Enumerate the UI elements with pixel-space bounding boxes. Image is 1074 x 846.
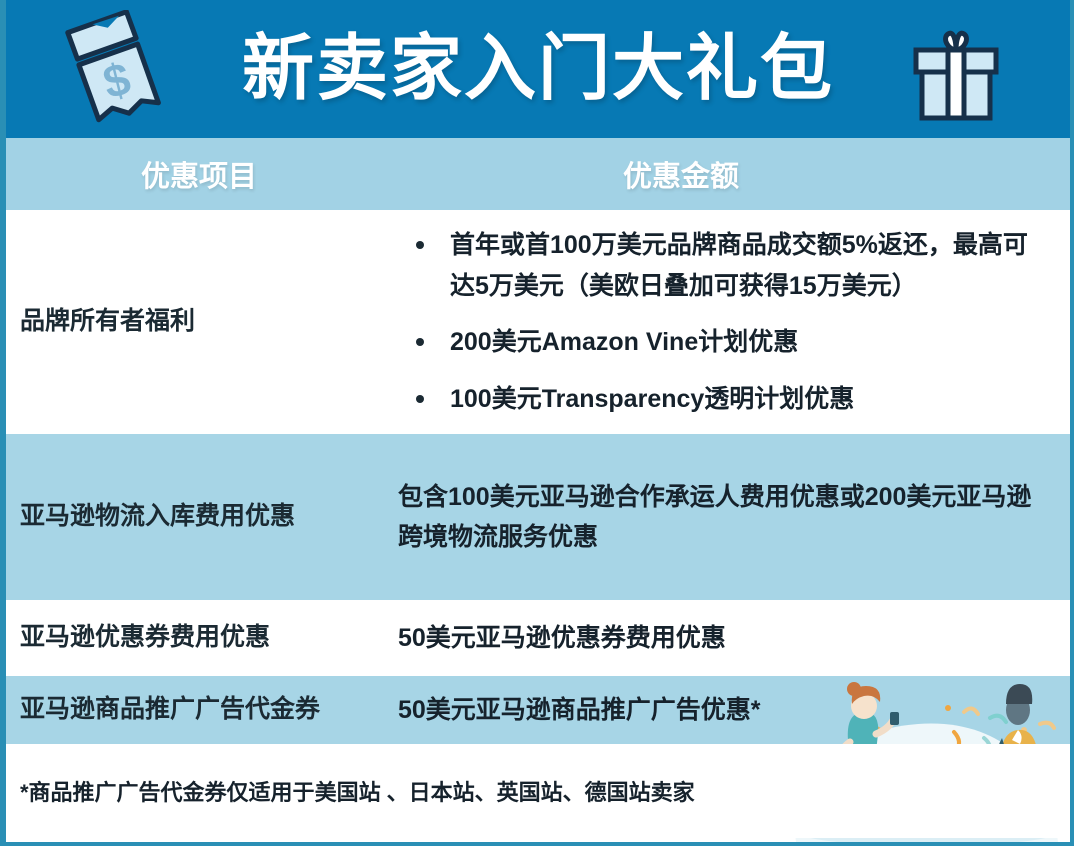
gift-box-icon <box>904 28 1008 124</box>
row-label: 亚马逊物流入库费用优惠 <box>6 500 392 534</box>
column-header-item: 优惠项目 <box>6 153 392 195</box>
table-row: 亚马逊优惠券费用优惠 50美元亚马逊优惠券费用优惠 <box>6 600 1070 676</box>
table-row: 亚马逊商品推广广告代金券 50美元亚马逊商品推广广告优惠* <box>6 676 1070 744</box>
row-label: 亚马逊商品推广广告代金券 <box>6 693 392 727</box>
column-header-amount: 优惠金额 <box>392 153 1070 195</box>
ticket-dollar-icon: $ <box>48 10 168 130</box>
header-banner: $ 新卖家入门大礼包 <box>6 0 1070 138</box>
footnote: *商品推广广告代金券仅适用于美国站 、日本站、英国站、德国站卖家 <box>6 744 1070 838</box>
benefit-bullet-list: 首年或首100万美元品牌商品成交额5%返还，最高可达5万美元（美欧日叠加可获得1… <box>402 225 1046 419</box>
row-value: 50美元亚马逊优惠券费用优惠 <box>392 618 1070 659</box>
footnote-text: *商品推广广告代金券仅适用于美国站 、日本站、英国站、德国站卖家 <box>20 775 695 807</box>
list-item: 100美元Transparency透明计划优惠 <box>402 379 1046 420</box>
table-row: 亚马逊物流入库费用优惠 包含100美元亚马逊合作承运人费用优惠或200美元亚马逊… <box>6 434 1070 600</box>
row-label: 亚马逊优惠券费用优惠 <box>6 621 392 655</box>
row-value: 首年或首100万美元品牌商品成交额5%返还，最高可达5万美元（美欧日叠加可获得1… <box>392 225 1070 419</box>
promo-poster: $ 新卖家入门大礼包 优惠项目 优惠金额 品牌所有者福利 首年或首100万美元品… <box>0 0 1074 846</box>
list-item: 首年或首100万美元品牌商品成交额5%返还，最高可达5万美元（美欧日叠加可获得1… <box>402 225 1046 306</box>
row-label: 品牌所有者福利 <box>6 305 392 339</box>
row-value: 包含100美元亚马逊合作承运人费用优惠或200美元亚马逊跨境物流服务优惠 <box>392 477 1070 558</box>
list-item: 200美元Amazon Vine计划优惠 <box>402 322 1046 363</box>
page-title: 新卖家入门大礼包 <box>242 33 834 105</box>
table-row: 品牌所有者福利 首年或首100万美元品牌商品成交额5%返还，最高可达5万美元（美… <box>6 210 1070 434</box>
row-value: 50美元亚马逊商品推广广告优惠* <box>392 690 1070 731</box>
benefits-table: 优惠项目 优惠金额 品牌所有者福利 首年或首100万美元品牌商品成交额5%返还，… <box>6 138 1070 744</box>
table-header-row: 优惠项目 优惠金额 <box>6 138 1070 210</box>
